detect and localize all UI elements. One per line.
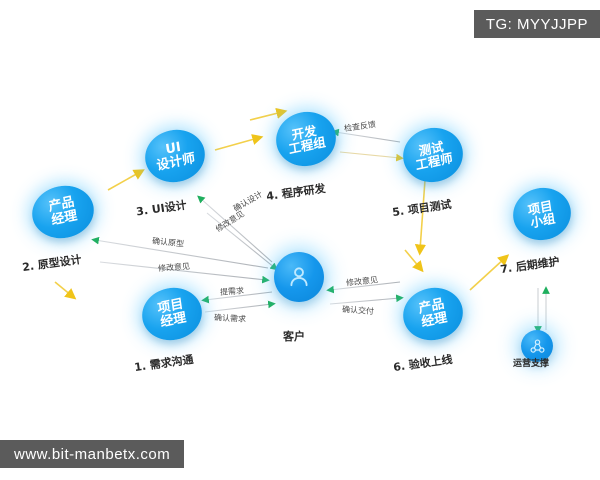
node-test-engineer[interactable]: 测试 工程师 — [403, 128, 463, 182]
node-product-manager-proto[interactable]: 产品 经理 — [32, 186, 94, 238]
watermark-bottom-url: www.bit-manbetx.com — [0, 440, 184, 468]
node-product-manager-accept[interactable]: 产品 经理 — [403, 288, 463, 340]
node-ellipse: 项目 经理 — [137, 282, 207, 345]
node-project-team[interactable]: 项目 小组 — [513, 188, 571, 240]
edge-team-support — [538, 288, 546, 330]
edge-label-confirm-request: 确认需求 — [214, 312, 247, 325]
user-icon — [274, 252, 324, 302]
node-ellipse: UI 设计师 — [140, 124, 210, 187]
node-ellipse: 开发 工程组 — [271, 106, 341, 171]
node-ellipse: 产品 经理 — [398, 282, 468, 345]
edge-label-confirm-delivery: 确认交付 — [342, 304, 375, 317]
node-label-line2: 经理 — [51, 209, 78, 228]
node-dev-group[interactable]: 开发 工程组 — [276, 112, 336, 166]
node-ellipse: 产品 经理 — [27, 180, 98, 244]
node-label-line2: 经理 — [421, 311, 448, 330]
edge-label-revise-prototype: 修改意见 — [158, 261, 191, 274]
caption-operations-support: 运营支撑 — [513, 356, 549, 369]
diagram-canvas: 产品 经理 2. 原型设计 UI 设计师 3. UI设计 开发 工程组 4. 程… — [0, 0, 600, 480]
node-label-line2: 经理 — [160, 311, 187, 330]
watermark-top-badge: TG: MYYJJPP — [474, 10, 600, 38]
connector-layer — [0, 0, 600, 480]
caption-customer: 客户 — [283, 328, 305, 344]
edge-label-submit-request: 提需求 — [220, 285, 245, 298]
node-label-line2: 小组 — [530, 211, 556, 229]
node-ellipse: 测试 工程师 — [398, 122, 468, 187]
node-ui-designer[interactable]: UI 设计师 — [145, 130, 205, 182]
node-label-line2: 设计师 — [156, 152, 196, 174]
edge-dev-test — [335, 132, 400, 158]
node-ellipse: 项目 小组 — [508, 183, 576, 246]
node-project-manager[interactable]: 项目 经理 — [142, 288, 202, 340]
node-customer[interactable] — [274, 252, 324, 302]
